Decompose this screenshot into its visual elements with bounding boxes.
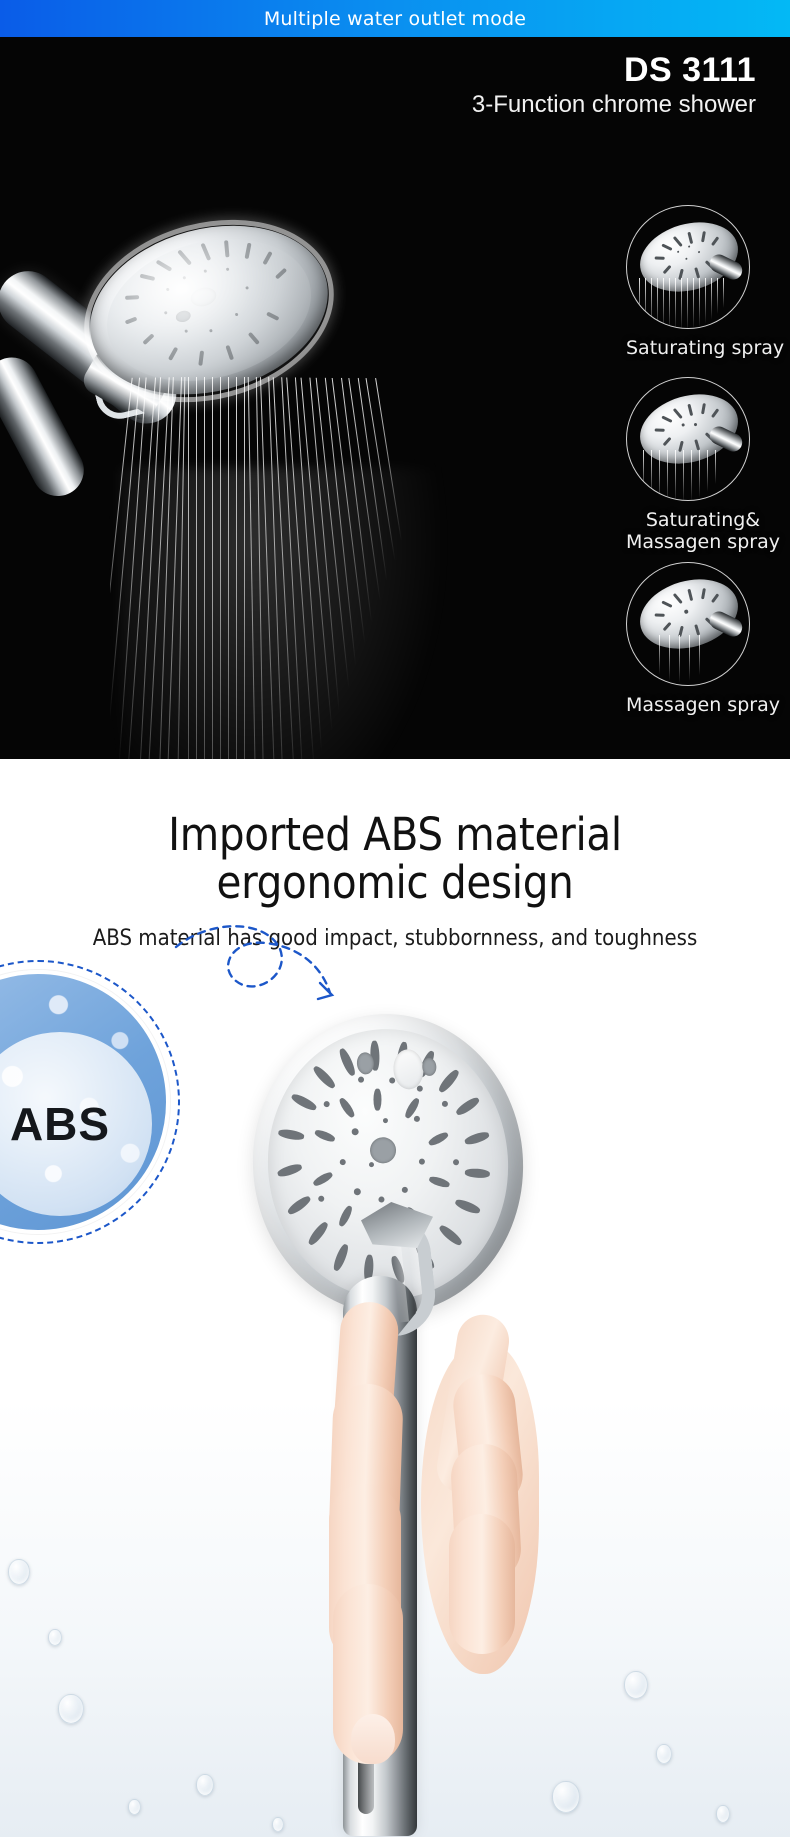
material-heading-line1: Imported ABS material [0, 811, 790, 859]
top-banner: Multiple water outlet mode [0, 0, 790, 37]
abs-label: ABS [10, 1097, 110, 1151]
hero-title-block: DS 3111 3-Function chrome shower [472, 52, 756, 119]
mode-circle-3 [626, 562, 750, 686]
mode-spray-2 [633, 450, 745, 501]
hero-section: DS 3111 3-Function chrome shower [0, 37, 790, 759]
product-model: DS 3111 [472, 52, 756, 89]
hero-shower-unit [0, 167, 410, 759]
material-heading-block: Imported ABS material ergonomic design A… [0, 759, 790, 951]
water-spray [110, 377, 470, 759]
product-subtitle: 3-Function chrome shower [472, 91, 756, 119]
mode-label-2-line2: Massagen spray [626, 532, 780, 554]
mode-spray-3 [633, 635, 745, 686]
mode-label-2: Saturating& Massagen spray [626, 510, 780, 554]
banner-title: Multiple water outlet mode [264, 8, 526, 30]
abs-badge: ABS [0, 952, 188, 1252]
material-section: Imported ABS material ergonomic design A… [0, 759, 790, 1837]
mode-item-1: Saturating spray [626, 205, 784, 360]
material-heading: Imported ABS material ergonomic design [0, 811, 790, 906]
mode-item-3: Massagen spray [626, 562, 780, 717]
mode-label-1: Saturating spray [626, 338, 784, 360]
hand-holding-shower [225, 1014, 535, 1837]
mode-label-3: Massagen spray [626, 695, 780, 717]
mode-label-2-line1: Saturating& [626, 510, 780, 532]
abs-inner-circle: ABS [0, 1032, 152, 1216]
mode-circle-1 [626, 205, 750, 329]
mode-spray-1 [633, 278, 745, 329]
material-subheading: ABS material has good impact, stubbornne… [0, 926, 790, 951]
mode-circle-2 [626, 377, 750, 501]
material-heading-line2: ergonomic design [0, 859, 790, 907]
mode-item-2: Saturating& Massagen spray [626, 377, 780, 554]
product-photo-shower [225, 1014, 535, 1837]
